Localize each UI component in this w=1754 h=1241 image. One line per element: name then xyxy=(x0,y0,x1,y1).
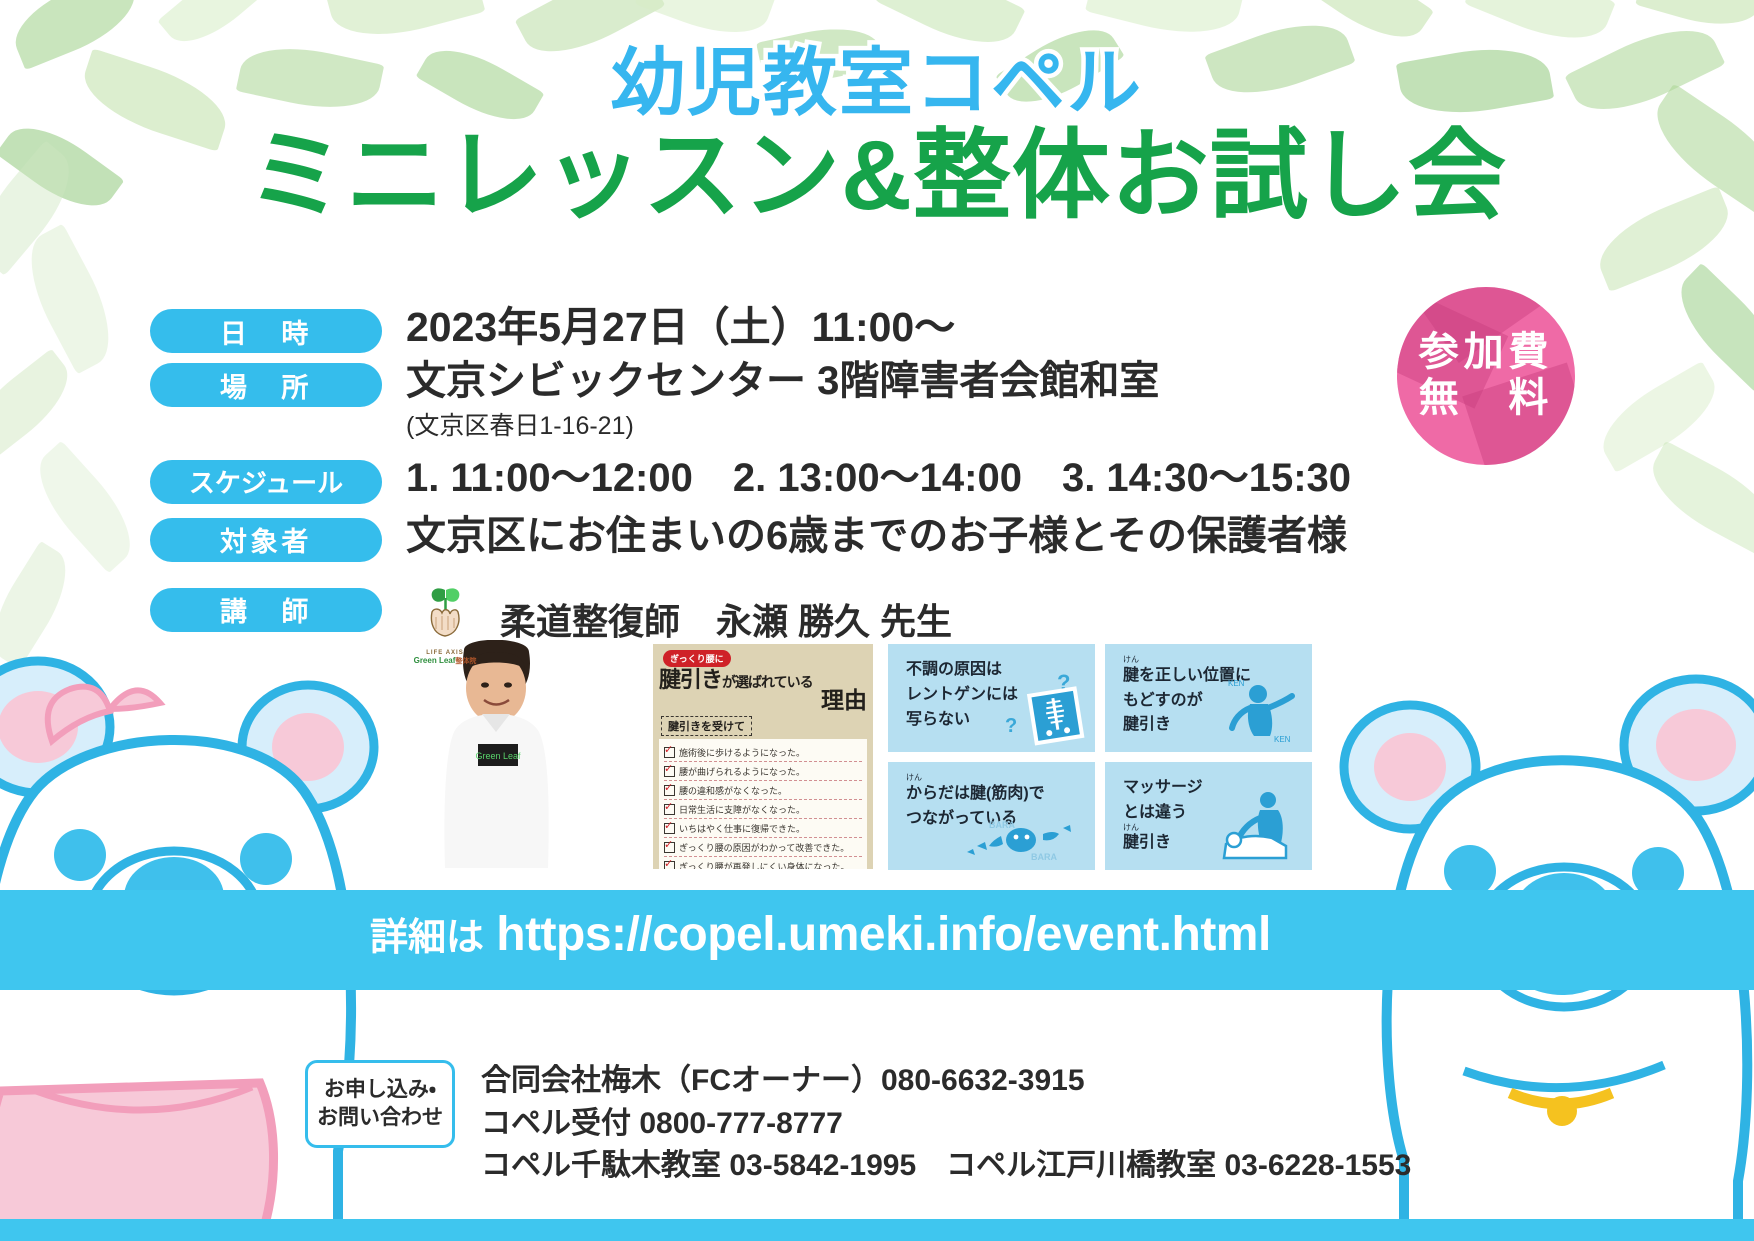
logo-name: Green Leaf xyxy=(414,656,456,665)
logo-suffix: 整体院 xyxy=(455,658,476,665)
value-instructor: 柔道整復師 永瀬 勝久 先生 xyxy=(500,602,952,642)
check-icon xyxy=(664,766,675,777)
info-box-line: 写らない xyxy=(906,711,970,728)
pamphlet-item-label: 日常生活に支障がなくなった。 xyxy=(679,803,805,816)
instructor-portrait-illustration: Green Leaf xyxy=(424,640,569,868)
pamphlet-headline-2: 理由 xyxy=(659,689,867,712)
pamphlet-item-label: 施術後に歩けるようになった。 xyxy=(679,746,805,759)
badge-line-1: 参加費 xyxy=(1419,330,1553,376)
pamphlet-item-label: いちはやく仕事に復帰できた。 xyxy=(679,822,805,835)
value-venue-address: (文京区春日1-16-21) xyxy=(406,406,1159,442)
list-item: ぎっくり腰が再発しにくい身体になった。 xyxy=(664,857,862,869)
bottom-accent-bar xyxy=(0,1219,1754,1241)
info-box-line: 腱引き xyxy=(1123,834,1171,851)
tendon-pamphlet: ぎっくり腰に 腱引きが選ばれている 理由 腱引きを受けて 施術後に歩けるようにな… xyxy=(653,644,873,869)
info-row-venue: 場 所 文京シビックセンター 3階障害者会館和室 (文京区春日1-16-21) xyxy=(150,359,1480,442)
label-venue: 場 所 xyxy=(150,363,382,407)
value-schedule: 1. 11:00〜12:00 2. 13:00〜14:00 3. 14:30〜1… xyxy=(406,456,1351,501)
info-box-line: 腱引き xyxy=(1123,716,1171,733)
event-url-link[interactable]: https://copel.umeki.info/event.html xyxy=(496,908,1271,961)
info-row-audience: 対象者 文京区にお住まいの6歳までのお子様とその保護者様 xyxy=(150,514,1480,562)
massage-icon xyxy=(1216,788,1302,864)
contact-button-line-2: お問い合わせ xyxy=(317,1104,443,1132)
info-boxes-grid: 不調の原因は レントゲンには 写らない ? ? xyxy=(888,644,1312,870)
details-url-band: 詳細は https://copel.umeki.info/event.html xyxy=(0,890,1754,990)
pamphlet-headline-sub: が選ばれている xyxy=(722,674,813,690)
info-box-muscle-chain: けん からだは腱(筋肉)で つながっている BARA BARA xyxy=(888,762,1095,870)
ruby-text: けん xyxy=(906,776,1095,781)
label-audience: 対象者 xyxy=(150,518,382,562)
info-row-datetime: 日 時 2023年5月27日（土）11:00〜 xyxy=(150,305,1480,353)
spine-adjust-icon: KEN KEN xyxy=(1222,674,1302,746)
info-box-line: マッサージ xyxy=(1123,779,1203,796)
info-row-schedule: スケジュール 1. 11:00〜12:00 2. 13:00〜14:00 3. … xyxy=(150,456,1480,504)
contact-button-line-1: お申し込み・ xyxy=(324,1076,436,1104)
value-venue: 文京シビックセンター 3階障害者会館和室 xyxy=(406,359,1159,404)
label-schedule: スケジュール xyxy=(150,460,382,504)
list-item: いちはやく仕事に復帰できた。 xyxy=(664,819,862,838)
svg-text:Green Leaf: Green Leaf xyxy=(475,751,521,761)
title-line-1: 幼児教室コペル xyxy=(0,44,1754,122)
check-icon xyxy=(664,785,675,796)
green-leaf-logo: LIFE AXIS Green Leaf整体院 xyxy=(406,584,484,660)
pamphlet-checklist: 施術後に歩けるようになった。 腰が曲げられるようになった。 腰の違和感がなくなっ… xyxy=(659,739,867,869)
list-item: ぎっくり腰の原因がわかって改善できた。 xyxy=(664,838,862,857)
info-row-instructor: 講 師 LIFE AXIS Green Leaf整体院 柔道整復師 xyxy=(150,584,1480,660)
muscle-chain-icon: BARA BARA xyxy=(955,814,1085,864)
hand-holding-sprout-icon xyxy=(406,584,484,640)
pamphlet-item-label: 腰の違和感がなくなった。 xyxy=(679,784,787,797)
info-box-line: もどすのが xyxy=(1123,692,1203,709)
check-icon xyxy=(664,747,675,758)
xray-icon: ? ? xyxy=(999,672,1085,746)
list-item: 腰が曲げられるようになった。 xyxy=(664,762,862,781)
check-icon xyxy=(664,861,675,870)
poster-title: 幼児教室コペル ミニレッスン&整体お試し会 xyxy=(0,44,1754,228)
event-info-table: 日 時 2023年5月27日（土）11:00〜 場 所 文京シビックセンター 3… xyxy=(150,305,1480,666)
check-icon xyxy=(664,842,675,853)
pamphlet-tag: 腱引きを受けて xyxy=(661,716,752,736)
list-item: 腰の違和感がなくなった。 xyxy=(664,781,862,800)
label-datetime: 日 時 xyxy=(150,309,382,353)
list-item: 日常生活に支障がなくなった。 xyxy=(664,800,862,819)
svg-text:KEN: KEN xyxy=(1228,679,1245,688)
title-line-2: ミニレッスン&整体お試し会 xyxy=(0,124,1754,228)
pamphlet-item-label: 腰が曲げられるようになった。 xyxy=(679,765,805,778)
poster-root: 幼児教室コペル ミニレッスン&整体お試し会 参加費 無 料 日 時 2023年5… xyxy=(0,0,1754,1241)
logo-caption: LIFE AXIS Green Leaf整体院 xyxy=(406,648,484,665)
check-icon xyxy=(664,804,675,815)
check-icon xyxy=(664,823,675,834)
pamphlet-item-label: ぎっくり腰が再発しにくい身体になった。 xyxy=(679,860,849,870)
contact-line: 合同会社梅木（FCオーナー）080-6632-3915 xyxy=(481,1060,1411,1103)
pamphlet-headline-main: 腱引き xyxy=(659,667,722,692)
details-url-text: 詳細は https://copel.umeki.info/event.html xyxy=(370,906,1271,962)
instructor-photo: Green Leaf xyxy=(424,640,569,868)
media-strip: Green Leaf ぎっくり腰に 腱引きが選ばれている 理由 腱引きを受けて … xyxy=(0,640,1754,870)
contact-phone-list: 合同会社梅木（FCオーナー）080-6632-3915 コペル受付 0800-7… xyxy=(481,1060,1411,1188)
list-item: 施術後に歩けるようになった。 xyxy=(664,743,862,762)
svg-text:BARA: BARA xyxy=(1031,852,1057,862)
badge-line-2: 無 料 xyxy=(1419,376,1553,422)
info-box-line: からだは腱(筋肉)で xyxy=(906,785,1045,802)
value-audience: 文京区にお住まいの6歳までのお子様とその保護者様 xyxy=(406,514,1347,559)
contact-line: コペル受付 0800-777-8777 xyxy=(481,1103,1411,1146)
application-inquiry-button[interactable]: お申し込み・ お問い合わせ xyxy=(305,1060,455,1148)
contact-section: お申し込み・ お問い合わせ 合同会社梅木（FCオーナー）080-6632-391… xyxy=(305,1060,1411,1188)
info-box-line: とは違う xyxy=(1123,804,1187,821)
details-label: 詳細は xyxy=(370,917,484,959)
pamphlet-item-label: ぎっくり腰の原因がわかって改善できた。 xyxy=(679,841,849,854)
contact-line: コペル千駄木教室 03-5842-1995 コペル江戸川橋教室 03-6228-… xyxy=(481,1145,1411,1188)
value-datetime: 2023年5月27日（土）11:00〜 xyxy=(406,305,955,351)
free-participation-badge: 参加費 無 料 xyxy=(1397,287,1575,465)
svg-text:?: ? xyxy=(1005,715,1017,737)
svg-text:BARA: BARA xyxy=(989,820,1015,830)
svg-text:KEN: KEN xyxy=(1274,735,1291,744)
label-instructor: 講 師 xyxy=(150,588,382,632)
info-box-massage-difference: マッサージ とは違う けん 腱引き xyxy=(1105,762,1312,870)
